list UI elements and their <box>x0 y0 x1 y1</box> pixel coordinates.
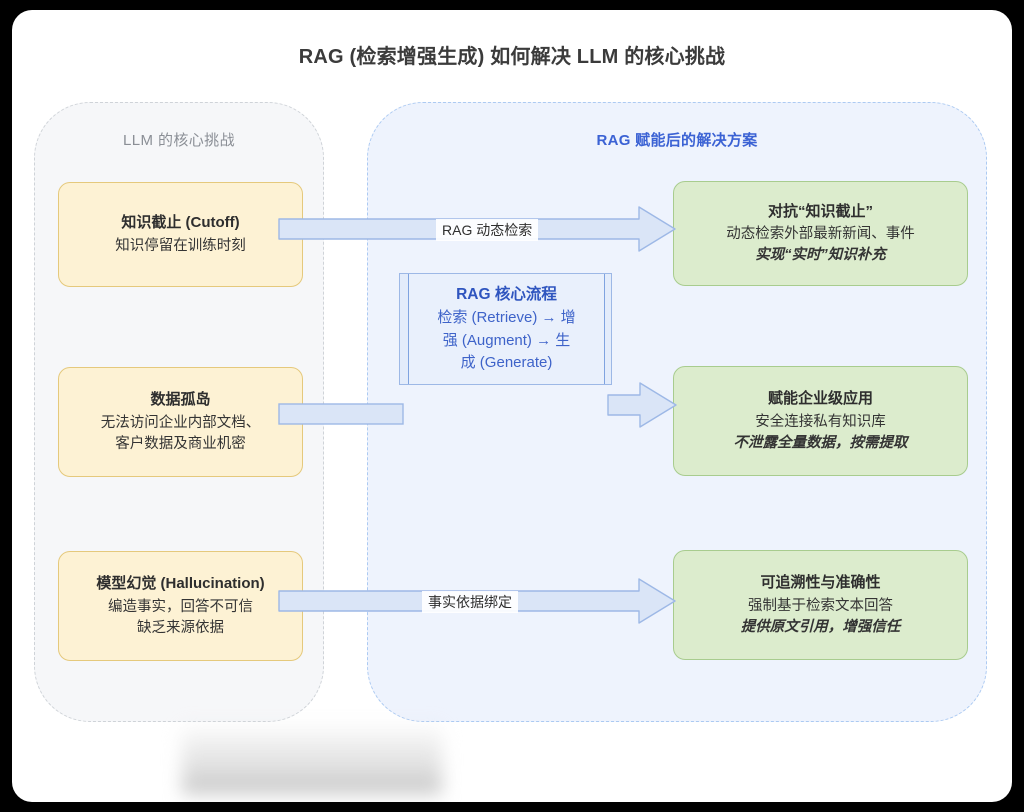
solution-card-anti-cutoff: 对抗“知识截止” 动态检索外部最新新闻、事件 实现“实时”知识补充 <box>673 181 968 286</box>
rag-core-process-flow-line: 成 (Generate) <box>461 352 553 375</box>
solution-card-emphasis: 提供原文引用，增强信任 <box>741 617 901 638</box>
rag-core-process-box: RAG 核心流程 检索 (Retrieve) → 增 强 (Augment) →… <box>399 273 612 385</box>
redacted-watermark <box>182 722 442 794</box>
challenges-panel-heading: LLM 的核心挑战 <box>35 129 323 150</box>
diagram-page: RAG (检索增强生成) 如何解决 LLM 的核心挑战 LLM 的核心挑战 知识… <box>12 10 1012 802</box>
solution-card-title: 可追溯性与准确性 <box>760 572 880 595</box>
connector-label-grounding: 事实依据绑定 <box>422 591 518 613</box>
rag-core-process-flow-line: 检索 (Retrieve) → 增 <box>437 307 575 330</box>
rag-core-process-inner: RAG 核心流程 检索 (Retrieve) → 增 强 (Augment) →… <box>408 274 605 384</box>
rag-core-process-title: RAG 核心流程 <box>456 283 557 307</box>
solution-card-line: 动态检索外部最新新闻、事件 <box>726 224 915 245</box>
challenge-card-line: 编造事实，回答不可信 <box>108 597 253 618</box>
connector-label-retrieval: RAG 动态检索 <box>436 219 538 241</box>
challenge-card-hallucination: 模型幻觉 (Hallucination) 编造事实，回答不可信 缺乏来源依据 <box>58 551 303 661</box>
solution-card-enterprise: 赋能企业级应用 安全连接私有知识库 不泄露全量数据，按需提取 <box>673 366 968 476</box>
solution-card-title: 对抗“知识截止” <box>768 201 873 224</box>
challenge-card-line: 无法访问企业内部文档、 <box>101 413 261 434</box>
solution-card-title: 赋能企业级应用 <box>768 388 873 411</box>
solutions-panel-heading: RAG 赋能后的解决方案 <box>368 129 986 150</box>
challenge-card-data-silo: 数据孤岛 无法访问企业内部文档、 客户数据及商业机密 <box>58 367 303 477</box>
rag-core-process-flow-line: 强 (Augment) → 生 <box>443 330 571 353</box>
connector-bar-to-process <box>278 395 404 425</box>
challenge-card-cutoff: 知识截止 (Cutoff) 知识停留在训练时刻 <box>58 182 303 287</box>
solution-card-line: 安全连接私有知识库 <box>755 412 886 433</box>
challenge-card-title: 数据孤岛 <box>150 389 210 412</box>
solution-card-emphasis: 实现“实时”知识补充 <box>755 245 886 266</box>
diagram-canvas: RAG (检索增强生成) 如何解决 LLM 的核心挑战 LLM 的核心挑战 知识… <box>12 10 1012 802</box>
page-title: RAG (检索增强生成) 如何解决 LLM 的核心挑战 <box>12 40 1012 69</box>
solution-card-line: 强制基于检索文本回答 <box>748 596 893 617</box>
solution-card-emphasis: 不泄露全量数据，按需提取 <box>734 433 908 454</box>
challenge-card-title: 模型幻觉 (Hallucination) <box>96 573 264 596</box>
challenge-card-title: 知识截止 (Cutoff) <box>121 212 239 235</box>
connector-arrow-process-out <box>607 382 679 428</box>
challenge-card-line: 知识停留在训练时刻 <box>115 236 246 257</box>
solution-card-traceability: 可追溯性与准确性 强制基于检索文本回答 提供原文引用，增强信任 <box>673 550 968 660</box>
challenge-card-line: 客户数据及商业机密 <box>115 434 246 455</box>
challenge-card-line: 缺乏来源依据 <box>137 618 224 639</box>
